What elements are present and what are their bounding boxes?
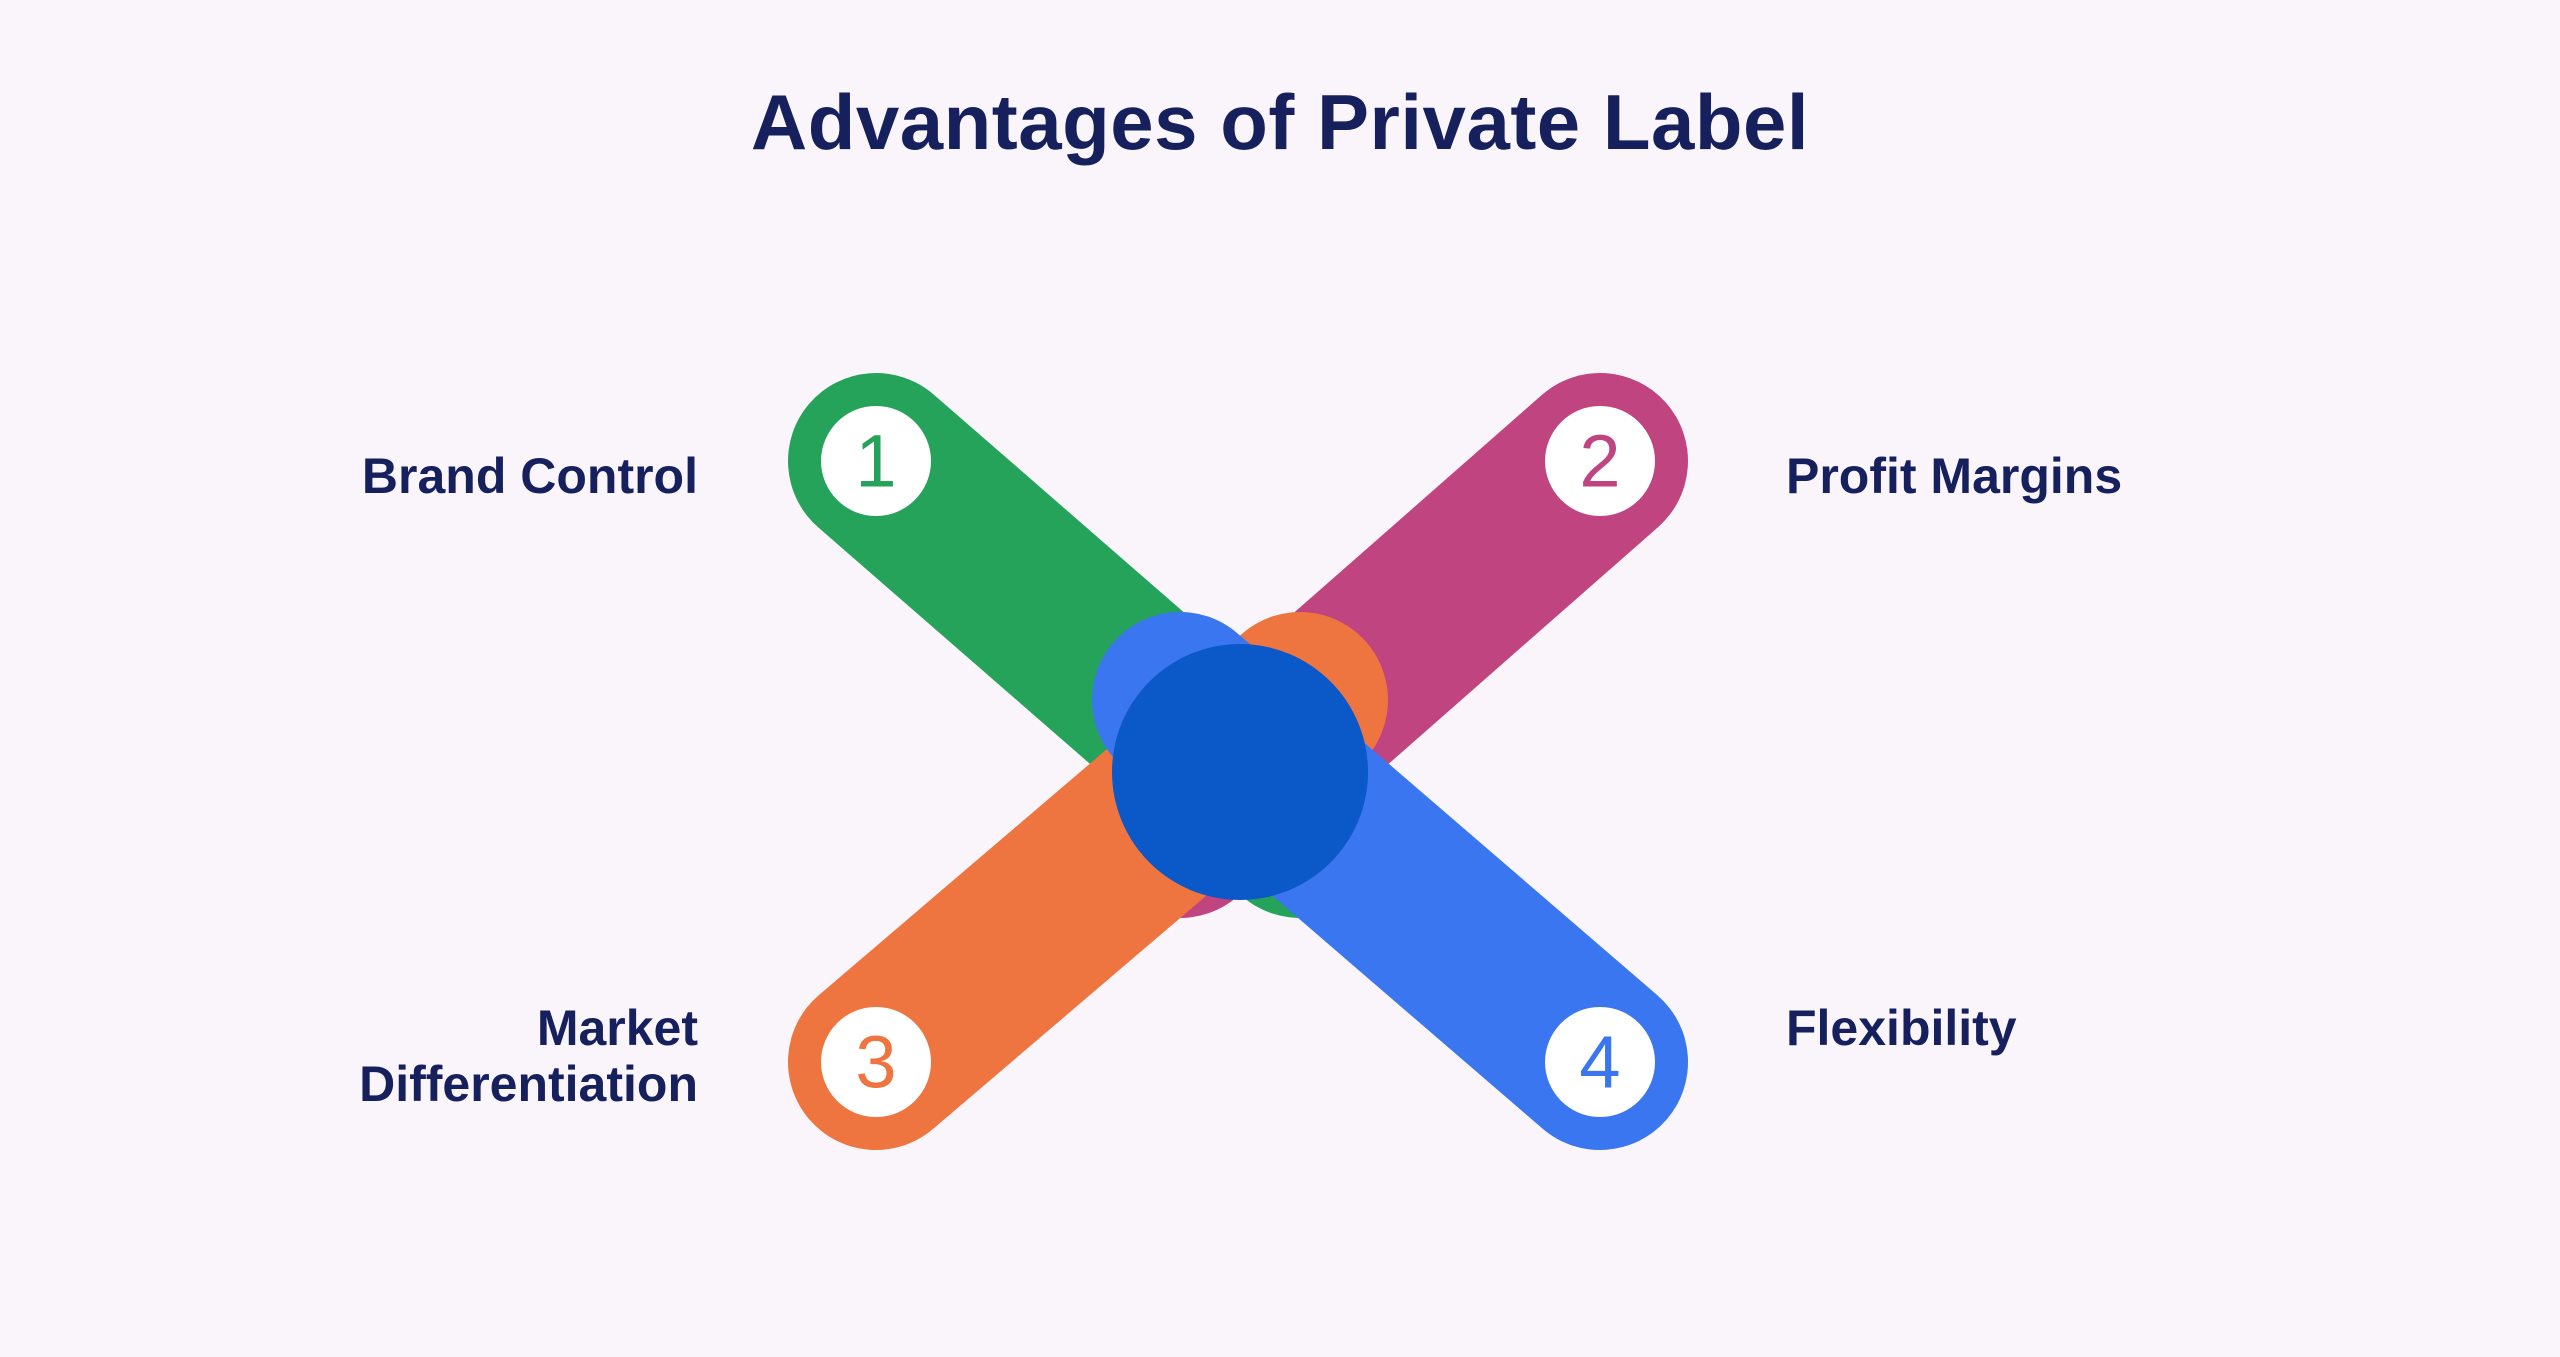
arm-label-market-differentiation: Market Differentiation — [359, 1000, 698, 1112]
badge-2[interactable]: 2 — [1545, 406, 1655, 516]
infographic-canvas: Advantages of Private Label 1 2 — [0, 0, 2560, 1357]
badge-4-number: 4 — [1579, 1021, 1620, 1104]
badge-3-number: 3 — [855, 1021, 896, 1104]
badge-1[interactable]: 1 — [821, 406, 931, 516]
pinwheel-diagram: 1 2 3 4 — [0, 0, 2560, 1357]
badge-2-number: 2 — [1579, 420, 1620, 503]
arm-label-profit-margins: Profit Margins — [1786, 448, 2122, 504]
badge-1-number: 1 — [855, 420, 896, 503]
badge-3[interactable]: 3 — [821, 1007, 931, 1117]
arm-label-flexibility: Flexibility — [1786, 1000, 2017, 1056]
arm-label-brand-control: Brand Control — [362, 448, 698, 504]
center-hub — [1112, 644, 1368, 900]
badge-4[interactable]: 4 — [1545, 1007, 1655, 1117]
